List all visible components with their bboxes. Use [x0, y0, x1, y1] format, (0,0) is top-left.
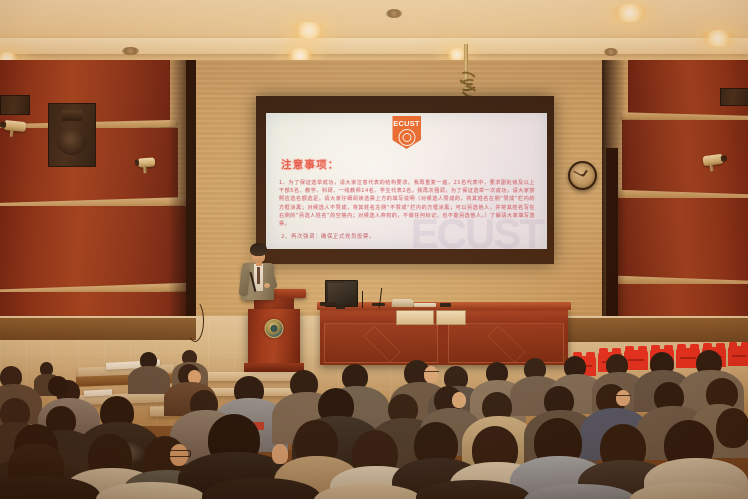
ceiling-light-unlit	[604, 48, 618, 56]
ceiling-light-lit	[610, 4, 650, 22]
audience-glasses	[424, 371, 439, 375]
projection-screen: ECUST ECUST 注意事项： 1、为了保证选举成功，请大家注意代表的结构要…	[266, 113, 547, 249]
audience-glasses	[616, 395, 631, 399]
podium-emblem	[265, 319, 284, 338]
audience-head	[48, 376, 68, 396]
security-camera-left-upper	[4, 120, 27, 132]
camera-body	[138, 157, 156, 167]
speaker-hair	[250, 243, 267, 256]
ceiling-light-lit	[700, 30, 736, 47]
audience-hand	[272, 444, 288, 464]
camera-lens	[0, 121, 6, 128]
audience-face	[452, 392, 466, 408]
monitor-stand	[336, 304, 345, 309]
head-table-light-panel	[396, 310, 434, 325]
slide-p2-text: 再次强调：确保正式党员投票。	[291, 234, 375, 240]
head-table-light-panel	[436, 310, 466, 325]
laptop	[391, 299, 414, 307]
security-camera-left-lower	[138, 157, 156, 167]
wall-panel	[622, 120, 748, 196]
slide-p1-text: 为了保证选举成功，请大家注意代表的结构要求。我再重复一遍，21名代表中，要求副处…	[279, 180, 535, 227]
desk-paper-stack	[414, 303, 436, 307]
desk-object	[440, 303, 451, 307]
wall-clock	[568, 161, 597, 190]
audience	[0, 348, 748, 499]
ceiling-light-unlit	[386, 9, 402, 18]
slide-p2-number: 2、	[281, 234, 291, 240]
speaker-woofer	[57, 128, 86, 155]
ceiling-light-unlit	[122, 47, 139, 55]
audience-body	[128, 366, 170, 394]
ceiling-band	[0, 38, 748, 54]
audience-glasses	[168, 450, 191, 457]
speaker-hand	[264, 283, 270, 288]
audience-head	[716, 408, 748, 448]
slide-paragraph-1: 1、为了保证选举成功，请大家注意代表的结构要求。我再重复一遍，21名代表中，要求…	[279, 179, 535, 228]
wall-speaker-left-upper	[0, 95, 30, 115]
slide-p1-number: 1、	[279, 180, 289, 186]
speaker-tweeter	[62, 110, 82, 121]
speaker-collar	[257, 267, 260, 284]
floor-cable	[186, 300, 204, 342]
stage-riser-left	[0, 318, 196, 340]
wall-speaker-left	[48, 103, 96, 167]
wall-panel	[0, 206, 186, 290]
camera-mount	[144, 166, 147, 172]
slide-paragraph-2: 2、再次强调：确保正式党员投票。	[281, 232, 375, 240]
desk-object	[320, 302, 336, 306]
stage-riser-right	[566, 318, 748, 342]
ecust-logo-text: ECUST	[393, 119, 419, 128]
camera-lens	[721, 155, 727, 162]
lecture-hall-photo: EPSON ECUST ECUST 注意事项： 1、为了保证选举成功，请大家注意…	[0, 0, 748, 499]
monitor-screen	[328, 283, 355, 304]
wall-speaker-right-upper	[720, 88, 748, 106]
ecust-logo-seal	[398, 129, 415, 146]
microphone-stem	[362, 291, 363, 308]
clock-center	[581, 174, 583, 176]
slide-heading: 注意事项：	[281, 157, 340, 172]
camera-body	[4, 120, 27, 132]
wall-panel	[614, 198, 748, 282]
ceiling-light-lit	[290, 22, 328, 39]
